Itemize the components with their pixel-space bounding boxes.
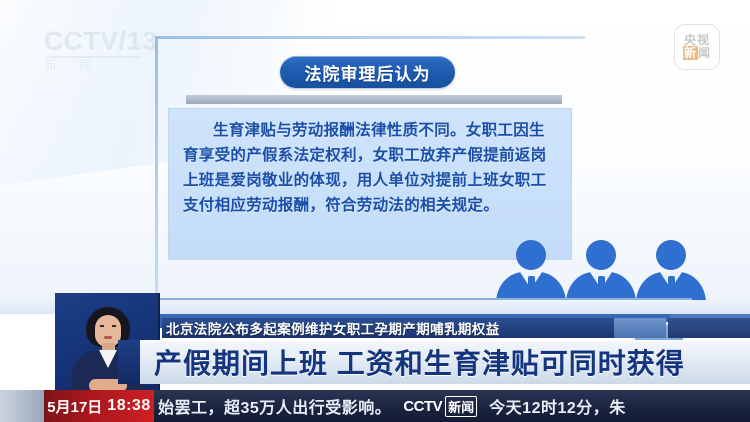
- broadcast-screenshot: CCTV/13 新 闻 央视 新闻 法院审理后认为 生育津贴与劳动报酬法律性质不…: [0, 0, 750, 422]
- title-divider-bar: [186, 95, 562, 104]
- cctv-logo-slash: /: [119, 26, 127, 56]
- anchor-mouth: [104, 336, 112, 339]
- ticker-time: 18:38: [107, 397, 150, 415]
- news-ticker: 5月17日 18:38 始罢工，超35万人出行受影响。 CCTV 新闻 今天12…: [0, 390, 750, 422]
- headline-text: 产假期间上班 工资和生育津贴可同时获得: [154, 342, 685, 382]
- judge-head-1: [516, 240, 546, 270]
- headline-left-cap: [118, 340, 142, 384]
- ticker-brand-news: 新闻: [445, 396, 477, 417]
- ticker-text-after: 今天12时12分，朱: [489, 394, 626, 418]
- graphic-title-label: 法院审理后认为: [305, 60, 431, 85]
- ticker-date: 5月17日: [47, 396, 102, 417]
- subheadline-bar: 北京法院公布多起案例维护女职工孕期产期哺乳期权益: [162, 318, 614, 338]
- judge-figure-icon-3: [636, 240, 706, 306]
- anchor-eye-right: [112, 325, 116, 327]
- ticker-text-before: 始罢工，超35万人出行受影响。: [158, 394, 391, 418]
- ticker-scroll-text: 始罢工，超35万人出行受影响。 CCTV 新闻 今天12时12分，朱: [158, 390, 626, 422]
- ticker-left-pad: [0, 390, 44, 422]
- judge-head-2: [586, 240, 616, 270]
- cctv-logo-subtitle: 新 闻: [44, 59, 154, 73]
- cctv-news-ticker-logo: CCTV 新闻: [401, 396, 479, 417]
- judge-figure-icon-1: [496, 240, 566, 306]
- judge-tie-1: [528, 276, 535, 296]
- cctv-logo-text: CCTV: [44, 26, 119, 56]
- anchor-eye-left: [100, 325, 104, 327]
- graphic-text-card: 生育津贴与劳动报酬法律性质不同。女职工因生育享受的产假系法定权利，女职工放弃产假…: [168, 108, 572, 260]
- subheadline-tail-dark: [668, 318, 750, 338]
- cctv-news-app-watermark-icon: 央视 新闻: [674, 24, 720, 70]
- watermark-cold-char: 闻: [698, 46, 711, 60]
- panel-top-rule: [155, 36, 585, 39]
- graphic-title-pill: 法院审理后认为: [280, 56, 455, 88]
- cctv13-channel-logo: CCTV/13 新 闻: [44, 28, 154, 74]
- judge-figure-icon-2: [566, 240, 636, 306]
- cctv13-logo-row: CCTV/13: [44, 28, 154, 54]
- watermark-bottom-text: 新闻: [683, 47, 711, 60]
- judge-tie-2: [598, 276, 605, 296]
- judge-head-3: [656, 240, 686, 270]
- judge-tie-3: [668, 276, 675, 296]
- graphic-body-text: 生育津贴与劳动报酬法律性质不同。女职工因生育享受的产假系法定权利，女职工放弃产假…: [169, 109, 571, 218]
- subheadline-tail-light: [614, 318, 666, 338]
- ticker-brand-cctv: CCTV: [403, 398, 442, 415]
- ticker-clock: 5月17日 18:38: [44, 390, 154, 422]
- headline-bar: 产假期间上班 工资和生育津贴可同时获得: [140, 340, 750, 384]
- subheadline-text: 北京法院公布多起案例维护女职工孕期产期哺乳期权益: [166, 318, 500, 338]
- cctv-logo-number: 13: [127, 26, 158, 56]
- watermark-hot-char: 新: [683, 46, 698, 60]
